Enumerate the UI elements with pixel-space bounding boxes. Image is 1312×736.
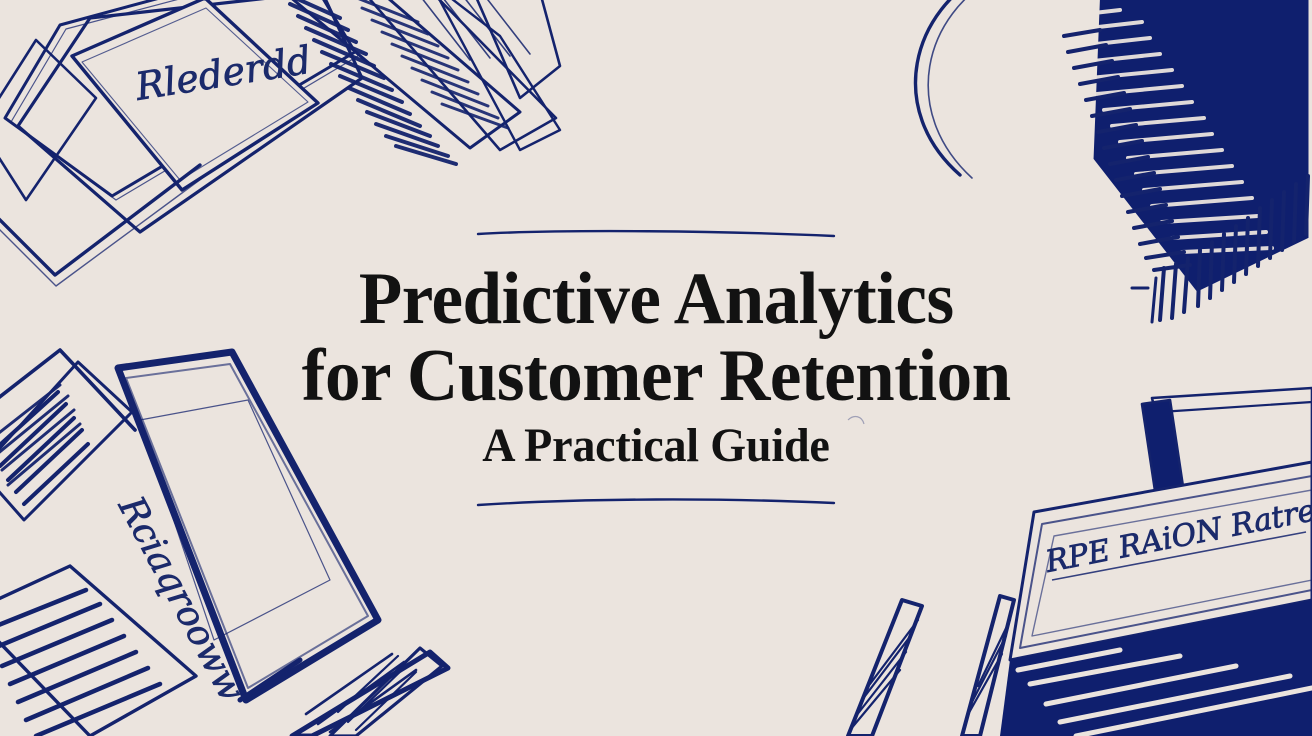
top-divider bbox=[476, 227, 836, 241]
title-block: Predictive Analytics for Customer Retent… bbox=[0, 0, 1312, 736]
title-card: Rlederdd bbox=[0, 0, 1312, 736]
title-line-2: for Customer Retention bbox=[302, 338, 1011, 414]
page-title: Predictive Analytics for Customer Retent… bbox=[302, 261, 1011, 413]
page-subtitle: A Practical Guide bbox=[482, 420, 829, 473]
title-line-1: Predictive Analytics bbox=[302, 261, 1011, 337]
bottom-divider bbox=[476, 495, 836, 509]
